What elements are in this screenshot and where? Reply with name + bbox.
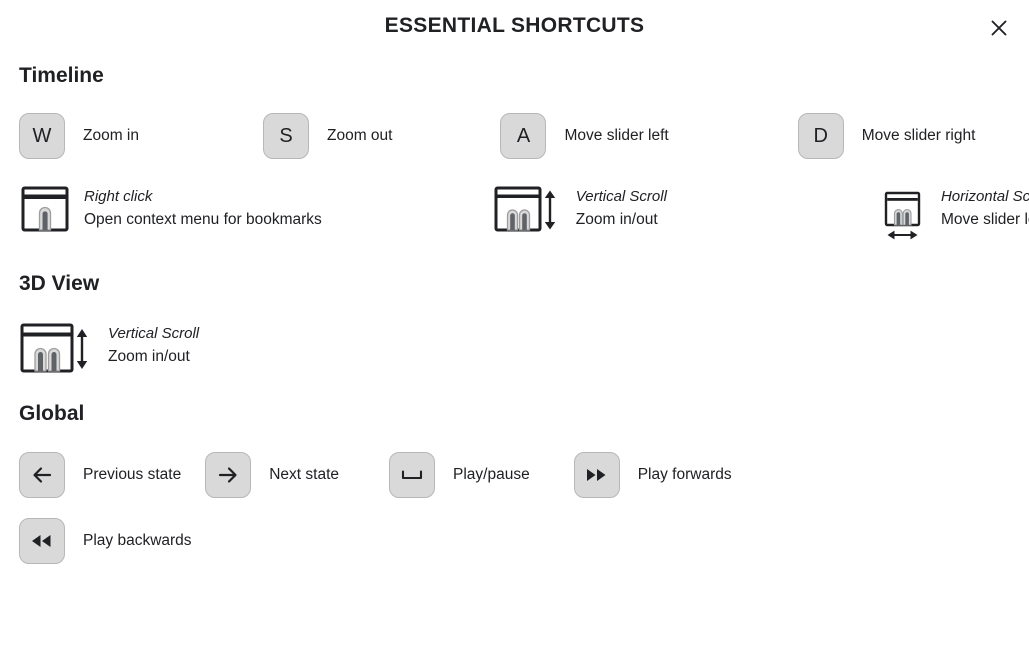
- gesture-item-right-click[interactable]: Right click Open context menu for bookma…: [19, 185, 322, 237]
- gesture-description: Move slider left/right: [941, 208, 1029, 232]
- keycap-spacebar[interactable]: [389, 452, 435, 498]
- shortcut-label: Zoom out: [327, 127, 392, 145]
- timeline-key-row: W Zoom in S Zoom out A Move slider left …: [0, 113, 1029, 159]
- keycap-w[interactable]: W: [19, 113, 65, 159]
- shortcuts-content: Timeline W Zoom in S Zoom out A Move sli…: [0, 64, 1029, 564]
- page-title: ESSENTIAL SHORTCUTS: [0, 14, 1029, 38]
- timeline-gesture-row: Right click Open context menu for bookma…: [0, 185, 1029, 247]
- close-button[interactable]: [983, 12, 1015, 44]
- rewind-icon: [29, 531, 55, 551]
- keycap-s[interactable]: S: [263, 113, 309, 159]
- arrow-right-icon: [216, 463, 240, 487]
- arrow-left-icon: [30, 463, 54, 487]
- keycap-a[interactable]: A: [500, 113, 546, 159]
- gesture-text: Horizontal Scroll Move slider left/right: [941, 185, 1029, 232]
- close-icon: [989, 18, 1009, 38]
- trackpad-vertical-scroll-icon: [493, 185, 563, 237]
- shortcut-item-move-slider-right[interactable]: D Move slider right: [798, 113, 976, 159]
- trackpad-right-click-icon: [19, 185, 71, 237]
- keycap-d[interactable]: D: [798, 113, 844, 159]
- section-title-3d-view: 3D View: [0, 272, 1029, 296]
- gesture-item-3dview-vertical-scroll[interactable]: Vertical Scroll Zoom in/out: [19, 322, 199, 374]
- shortcut-label: Play backwards: [83, 532, 192, 550]
- 3dview-gesture-row: Vertical Scroll Zoom in/out: [0, 322, 1029, 374]
- gesture-text: Vertical Scroll Zoom in/out: [576, 185, 667, 232]
- gesture-description: Zoom in/out: [576, 208, 667, 232]
- fast-forward-icon: [584, 465, 610, 485]
- shortcut-label: Previous state: [83, 466, 181, 484]
- section-title-global: Global: [0, 402, 1029, 426]
- shortcut-label: Move slider left: [564, 127, 668, 145]
- gesture-name: Vertical Scroll: [576, 185, 667, 208]
- keycap-rewind[interactable]: [19, 518, 65, 564]
- gesture-text: Vertical Scroll Zoom in/out: [108, 322, 199, 369]
- gesture-item-vertical-scroll[interactable]: Vertical Scroll Zoom in/out: [493, 185, 667, 237]
- shortcut-label: Zoom in: [83, 127, 139, 145]
- shortcut-item-move-slider-left[interactable]: A Move slider left: [500, 113, 668, 159]
- shortcut-label: Play forwards: [638, 466, 732, 484]
- section-title-timeline: Timeline: [0, 64, 1029, 88]
- essential-shortcuts-dialog: { "dialog": { "title": "ESSENTIAL SHORTC…: [0, 0, 1029, 665]
- shortcut-item-play-backwards[interactable]: Play backwards: [19, 518, 192, 564]
- keycap-arrow-right[interactable]: [205, 452, 251, 498]
- dialog-header: ESSENTIAL SHORTCUTS: [0, 0, 1029, 56]
- gesture-name: Vertical Scroll: [108, 322, 199, 345]
- gesture-name: Right click: [84, 185, 322, 208]
- keycap-arrow-left[interactable]: [19, 452, 65, 498]
- gesture-item-horizontal-scroll[interactable]: Horizontal Scroll Move slider left/right: [876, 185, 1029, 247]
- keycap-fast-forward[interactable]: [574, 452, 620, 498]
- shortcut-item-play-forwards[interactable]: Play forwards: [574, 452, 732, 498]
- global-key-row-2: Play backwards: [0, 518, 1029, 564]
- shortcut-label: Move slider right: [862, 127, 976, 145]
- shortcut-item-zoom-in[interactable]: W Zoom in: [19, 113, 139, 159]
- gesture-text: Right click Open context menu for bookma…: [84, 185, 322, 232]
- shortcut-item-next-state[interactable]: Next state: [205, 452, 339, 498]
- shortcut-item-previous-state[interactable]: Previous state: [19, 452, 181, 498]
- shortcut-label: Play/pause: [453, 466, 530, 484]
- gesture-description: Zoom in/out: [108, 345, 199, 369]
- trackpad-vertical-scroll-icon: [19, 322, 95, 374]
- gesture-description: Open context menu for bookmarks: [84, 208, 322, 232]
- shortcut-item-play-pause[interactable]: Play/pause: [389, 452, 530, 498]
- global-key-row-1: Previous state Next state Play/p: [0, 452, 1029, 498]
- spacebar-icon: [399, 465, 425, 485]
- shortcut-item-zoom-out[interactable]: S Zoom out: [263, 113, 392, 159]
- shortcut-label: Next state: [269, 466, 339, 484]
- trackpad-horizontal-scroll-icon: [876, 185, 928, 247]
- gesture-name: Horizontal Scroll: [941, 185, 1029, 208]
